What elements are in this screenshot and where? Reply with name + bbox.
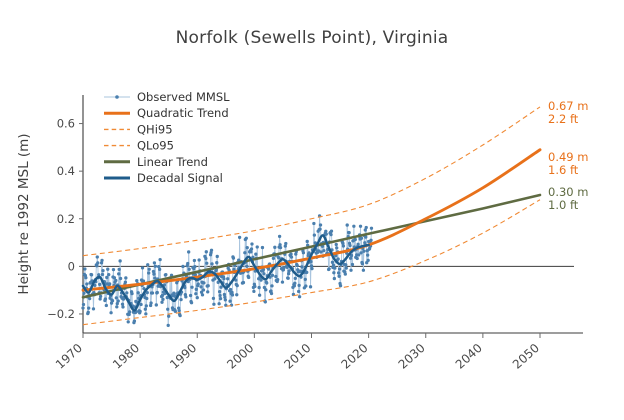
observed-point <box>201 293 204 296</box>
observed-point <box>133 319 136 322</box>
legend-item[interactable]: QLo95 <box>104 139 174 153</box>
observed-point <box>101 269 104 272</box>
observed-point <box>270 284 273 287</box>
observed-point <box>332 264 335 267</box>
observed-point <box>335 243 338 246</box>
observed-point <box>144 312 147 315</box>
legend-item[interactable]: Observed MMSL <box>104 90 230 104</box>
observed-point <box>345 267 348 270</box>
observed-point <box>361 262 364 265</box>
observed-point <box>359 251 362 254</box>
legend-marker-observed <box>115 95 119 99</box>
observed-point <box>290 255 293 258</box>
observed-point <box>178 309 181 312</box>
observed-point <box>222 277 225 280</box>
observed-point <box>115 296 118 299</box>
observed-point <box>186 262 189 265</box>
observed-point <box>187 250 190 253</box>
observed-point <box>202 288 205 291</box>
observed-point <box>118 259 121 262</box>
observed-point <box>322 249 325 252</box>
observed-point <box>318 228 321 231</box>
observed-point <box>130 292 133 295</box>
observed-point <box>95 264 98 267</box>
observed-point <box>81 306 84 309</box>
observed-point <box>196 296 199 299</box>
observed-point <box>302 251 305 254</box>
observed-point <box>306 240 309 243</box>
observed-point <box>307 251 310 254</box>
observed-point <box>125 291 128 294</box>
observed-point <box>304 278 307 281</box>
observed-point <box>258 294 261 297</box>
legend-label: QHi95 <box>137 122 173 136</box>
observed-point <box>338 267 341 270</box>
observed-point <box>274 275 277 278</box>
observed-point <box>359 225 362 228</box>
observed-point <box>333 266 336 269</box>
observed-point <box>327 267 330 270</box>
observed-point <box>245 237 248 240</box>
observed-point <box>218 302 221 305</box>
observed-point <box>138 310 141 313</box>
annotation-meters: 0.67 m <box>548 99 588 113</box>
observed-point <box>300 265 303 268</box>
observed-point <box>238 236 241 239</box>
endpoint-annotation: 0.30 m1.0 ft <box>548 185 588 212</box>
observed-point <box>160 301 163 304</box>
observed-point <box>232 257 235 260</box>
observed-point <box>346 223 349 226</box>
observed-point <box>270 292 273 295</box>
sea-level-chart-figure: Norfolk (Sewells Point), Virginia Observ… <box>0 0 624 420</box>
observed-point <box>112 268 115 271</box>
observed-point <box>289 253 292 256</box>
observed-point <box>206 290 209 293</box>
observed-markers <box>81 214 373 327</box>
observed-point <box>261 246 264 249</box>
legend-item[interactable]: Quadratic Trend <box>104 106 229 120</box>
observed-point <box>145 297 148 300</box>
observed-point <box>228 300 231 303</box>
observed-point <box>250 242 253 245</box>
observed-point <box>312 222 315 225</box>
observed-point <box>137 291 140 294</box>
observed-point <box>284 242 287 245</box>
observed-point <box>253 285 256 288</box>
observed-point <box>107 273 110 276</box>
observed-point <box>246 246 249 249</box>
observed-point <box>212 303 215 306</box>
observed-point <box>149 301 152 304</box>
observed-point <box>154 265 157 268</box>
annotation-meters: 0.30 m <box>548 185 588 199</box>
observed-point <box>141 266 144 269</box>
observed-point <box>153 261 156 264</box>
observed-point <box>344 263 347 266</box>
x-tick-label: 2050 <box>510 341 542 372</box>
observed-point <box>87 307 90 310</box>
observed-point <box>205 250 208 253</box>
observed-point <box>194 292 197 295</box>
observed-point <box>215 261 218 264</box>
observed-point <box>297 290 300 293</box>
observed-point <box>216 255 219 258</box>
observed-point <box>90 273 93 276</box>
observed-point <box>193 259 196 262</box>
x-tick-label: 2000 <box>224 341 256 372</box>
observed-point <box>337 271 340 274</box>
observed-point <box>218 290 221 293</box>
observed-point <box>226 277 229 280</box>
observed-point <box>282 266 285 269</box>
observed-point <box>354 238 357 241</box>
y-tick-label: −0.2 <box>47 307 75 321</box>
observed-point <box>324 230 327 233</box>
observed-point <box>278 243 281 246</box>
observed-point <box>304 284 307 287</box>
observed-point <box>119 277 122 280</box>
observed-point <box>247 276 250 279</box>
observed-point <box>104 297 107 300</box>
observed-point <box>101 273 104 276</box>
endpoint-annotation: 0.49 m1.6 ft <box>548 150 588 177</box>
observed-point <box>278 235 281 238</box>
observed-point <box>309 285 312 288</box>
y-tick-label: 0.6 <box>57 117 75 131</box>
observed-point <box>117 299 120 302</box>
x-tick-label: 2010 <box>281 341 313 372</box>
observed-point <box>296 264 299 267</box>
observed-point <box>210 249 213 252</box>
observed-point <box>367 259 370 262</box>
observed-point <box>319 223 322 226</box>
observed-point <box>105 304 108 307</box>
x-tick-label: 1980 <box>110 341 142 372</box>
observed-point <box>179 298 182 301</box>
annotation-feet: 2.2 ft <box>548 112 579 126</box>
observed-point <box>210 262 213 265</box>
observed-point <box>297 284 300 287</box>
observed-point <box>313 233 316 236</box>
legend-label: Linear Trend <box>137 155 208 169</box>
observed-point <box>96 261 99 264</box>
observed-point <box>245 265 248 268</box>
observed-point <box>161 298 164 301</box>
observed-point <box>82 303 85 306</box>
legend-label: QLo95 <box>137 139 174 153</box>
annotation-feet: 1.0 ft <box>548 198 579 212</box>
observed-point <box>181 265 184 268</box>
observed-point <box>271 274 274 277</box>
observed-point <box>369 239 372 242</box>
observed-point <box>250 247 253 250</box>
observed-point <box>124 276 127 279</box>
observed-point <box>108 282 111 285</box>
y-tick-label: 0.2 <box>57 212 75 226</box>
observed-point <box>98 283 101 286</box>
observed-point <box>264 288 267 291</box>
observed-point <box>109 311 112 314</box>
observed-point <box>190 286 193 289</box>
observed-point <box>252 290 255 293</box>
x-tick-label: 2020 <box>339 341 371 372</box>
observed-point <box>184 295 187 298</box>
observed-point <box>199 285 202 288</box>
observed-point <box>219 297 222 300</box>
observed-point <box>305 271 308 274</box>
observed-point <box>357 243 360 246</box>
observed-point <box>360 237 363 240</box>
observed-point <box>276 278 279 281</box>
observed-point <box>152 273 155 276</box>
legend-item[interactable]: QHi95 <box>104 122 173 136</box>
observed-point <box>281 280 284 283</box>
observed-point <box>212 297 215 300</box>
observed-point <box>166 308 169 311</box>
observed-point <box>330 229 333 232</box>
observed-point <box>349 269 352 272</box>
observed-point <box>335 246 338 249</box>
observed-point <box>155 303 158 306</box>
observed-point <box>195 288 198 291</box>
observed-point <box>178 314 181 317</box>
observed-point <box>135 279 138 282</box>
legend-item[interactable]: Decadal Signal <box>104 171 223 185</box>
observed-point <box>298 295 301 298</box>
observed-point <box>293 282 296 285</box>
legend-item[interactable]: Linear Trend <box>104 155 208 169</box>
observed-point <box>344 272 347 275</box>
observed-point <box>310 267 313 270</box>
observed-point <box>213 277 216 280</box>
endpoint-annotations: 0.67 m2.2 ft0.49 m1.6 ft0.30 m1.0 ft <box>548 99 588 212</box>
observed-point <box>370 227 373 230</box>
observed-point <box>207 284 210 287</box>
observed-point <box>231 293 234 296</box>
observed-point <box>88 297 91 300</box>
observed-point <box>262 272 265 275</box>
observed-point <box>362 269 365 272</box>
observed-point <box>106 268 109 271</box>
observed-point <box>325 232 328 235</box>
observed-point <box>351 263 354 266</box>
legend-label: Observed MMSL <box>137 90 230 104</box>
x-tick-label: 2040 <box>453 341 485 372</box>
observed-point <box>158 268 161 271</box>
observed-point <box>287 272 290 275</box>
observed-point <box>158 258 161 261</box>
legend-label: Quadratic Trend <box>137 106 229 120</box>
observed-point <box>151 291 154 294</box>
observed-point <box>339 284 342 287</box>
x-tick-label: 1970 <box>53 341 85 372</box>
observed-point <box>287 269 290 272</box>
observed-point <box>337 275 340 278</box>
observed-point <box>224 298 227 301</box>
observed-point <box>236 284 239 287</box>
observed-point <box>218 294 221 297</box>
observed-point <box>147 271 150 274</box>
observed-point <box>83 267 86 270</box>
observed-point <box>366 253 369 256</box>
observed-point <box>84 276 87 279</box>
observed-point <box>82 292 85 295</box>
legend-label: Decadal Signal <box>137 171 223 185</box>
observed-point <box>249 250 252 253</box>
observed-point <box>349 257 352 260</box>
observed-point <box>124 281 127 284</box>
y-axis-label: Height re 1992 MSL (m) <box>16 133 32 294</box>
observed-point <box>257 286 260 289</box>
observed-point <box>365 226 368 229</box>
observed-point <box>287 277 290 280</box>
observed-point <box>128 310 131 313</box>
observed-point <box>172 292 175 295</box>
observed-point <box>356 257 359 260</box>
observed-point <box>167 324 170 327</box>
observed-point <box>114 279 117 282</box>
observed-point <box>167 315 170 318</box>
observed-point <box>153 276 156 279</box>
observed-point <box>156 291 159 294</box>
observed-point <box>319 250 322 253</box>
annotation-meters: 0.49 m <box>548 150 588 164</box>
observed-point <box>146 263 149 266</box>
observed-point <box>189 294 192 297</box>
observed-point <box>96 255 99 258</box>
observed-series <box>81 214 373 327</box>
observed-point <box>243 251 246 254</box>
observed-point <box>105 276 108 279</box>
observed-point <box>115 305 118 308</box>
observed-point <box>332 271 335 274</box>
observed-point <box>362 250 365 253</box>
observed-point <box>342 244 345 247</box>
observed-point <box>267 268 270 271</box>
observed-point <box>100 259 103 262</box>
observed-point <box>242 281 245 284</box>
observed-point <box>145 304 148 307</box>
observed-point <box>197 282 200 285</box>
observed-point <box>265 281 268 284</box>
observed-point <box>337 257 340 260</box>
observed-point <box>164 273 167 276</box>
observed-point <box>205 262 208 265</box>
observed-point <box>99 295 102 298</box>
observed-point <box>254 253 257 256</box>
observed-point <box>329 233 332 236</box>
observed-point <box>139 303 142 306</box>
observed-point <box>190 301 193 304</box>
observed-point <box>202 281 205 284</box>
y-tick-label: 0 <box>68 259 75 273</box>
annotation-feet: 1.6 ft <box>548 163 579 177</box>
observed-point <box>363 241 366 244</box>
x-tick-label: 1990 <box>167 341 199 372</box>
observed-point <box>85 282 88 285</box>
observed-point <box>256 245 259 248</box>
observed-point <box>92 307 95 310</box>
observed-point <box>111 299 114 302</box>
observed-point <box>117 272 120 275</box>
observed-point <box>352 225 355 228</box>
observed-point <box>294 277 297 280</box>
observed-point <box>118 268 121 271</box>
observed-point <box>144 308 147 311</box>
observed-point <box>331 261 334 264</box>
observed-point <box>121 305 124 308</box>
observed-point <box>273 246 276 249</box>
observed-point <box>259 278 262 281</box>
y-tick-label: 0.4 <box>57 164 75 178</box>
observed-point <box>229 288 232 291</box>
x-tick-label: 2030 <box>396 341 428 372</box>
chart-legend: Observed MMSLQuadratic TrendQHi95QLo95Li… <box>104 90 230 185</box>
observed-point <box>348 244 351 247</box>
observed-point <box>347 231 350 234</box>
observed-point <box>279 246 282 249</box>
observed-point <box>272 257 275 260</box>
observed-point <box>127 320 130 323</box>
observed-point <box>148 268 151 271</box>
observed-point <box>188 268 191 271</box>
observed-point <box>193 265 196 268</box>
observed-point <box>87 311 90 314</box>
observed-point <box>333 277 336 280</box>
observed-point <box>204 257 207 260</box>
endpoint-annotation: 0.67 m2.2 ft <box>548 99 588 126</box>
observed-point <box>198 258 201 261</box>
observed-point <box>235 293 238 296</box>
chart-canvas: Observed MMSLQuadratic TrendQHi95QLo95Li… <box>0 0 624 420</box>
